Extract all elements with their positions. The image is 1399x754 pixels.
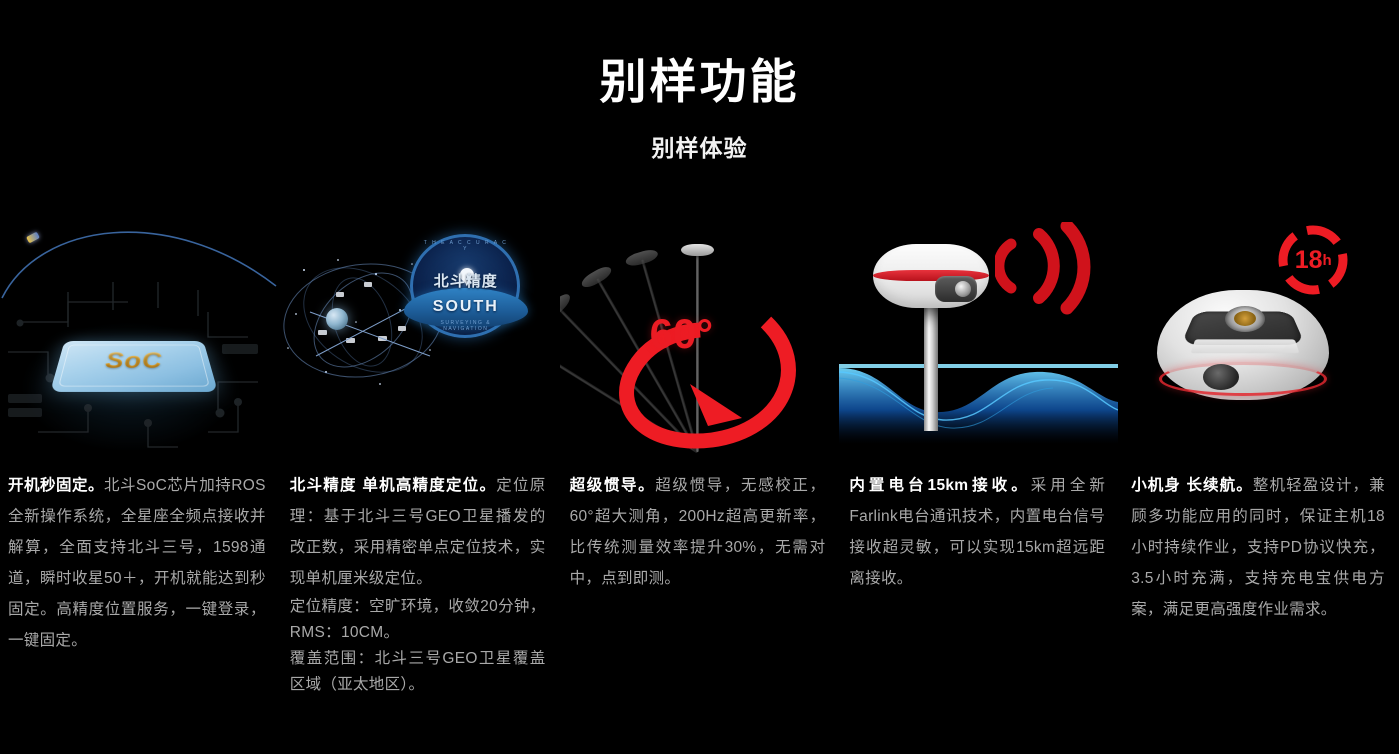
feature-extra-coverage: 覆盖范围：北斗三号GEO卫星覆盖区域（亚太地区）。 xyxy=(290,646,546,698)
feature-body-soc: 北斗SoC芯片加持ROS全新操作系统，全星座全频点接收并解算，全面支持北斗三号，… xyxy=(8,477,266,649)
chip-label: SoC xyxy=(82,348,186,374)
earth-icon xyxy=(326,308,348,330)
battery-hours-label: 18h xyxy=(1277,224,1349,296)
feature-column-radio: 内置电台15km接收。采用全新Farlink电台通讯技术，内置电台信号接收超灵敏… xyxy=(839,212,1119,732)
badge-cn-text: 北斗精度 xyxy=(412,270,520,291)
receiver-pole xyxy=(924,307,938,431)
beidou-accuracy-badge: T H E A C C U R A C Y 北斗精度 SOUTH SURVEYI… xyxy=(404,232,528,340)
battery-18h-badge: 18h xyxy=(1277,224,1349,296)
receiver-camera-module xyxy=(935,276,977,302)
beidou-constellation-image: T H E A C C U R A C Y 北斗精度 SOUTH SURVEYI… xyxy=(280,212,560,462)
feature-column-imu: 60° 超级惯导。超级惯导，无感校正，60°超大测角，200Hz超高更新率，比传… xyxy=(560,212,840,732)
receiver-base-port xyxy=(1203,364,1239,390)
receiver-base-sticker xyxy=(1191,339,1300,353)
battery-hours-unit: h xyxy=(1323,252,1332,269)
page-root: 别样功能 别样体验 xyxy=(0,0,1399,754)
receiver-radio-image xyxy=(839,212,1119,462)
feature-lead-beidou: 北斗精度 单机高精度定位。 xyxy=(290,477,497,494)
feature-column-battery: 18h 小机身 长续航。整机轻盈设计，兼顾多功能应用的同时，保证主机18小时持续… xyxy=(1119,212,1399,732)
feature-lead-imu: 超级惯导。 xyxy=(570,477,656,494)
badge-top-text: T H E A C C U R A C Y xyxy=(422,240,510,252)
page-title: 别样功能 xyxy=(0,52,1399,112)
receiver-thread-mount xyxy=(1225,306,1265,332)
page-subtitle: 别样体验 xyxy=(0,132,1399,164)
feature-columns: SoC 开机秒固定。北斗SoC芯片加持ROS全新操作系统，全星座全频点接收并解算… xyxy=(0,212,1399,732)
feature-copy-battery: 小机身 长续航。整机轻盈设计，兼顾多功能应用的同时，保证主机18小时持续作业，支… xyxy=(1131,470,1385,625)
feature-lead-radio: 内置电台15km接收。 xyxy=(849,477,1030,494)
badge-bottom-text: SURVEYING & NAVIGATION xyxy=(422,320,510,332)
tilt-degree-label: 60° xyxy=(650,310,714,358)
receiver-base-red-ring xyxy=(1159,362,1327,396)
rotation-arrow-icon xyxy=(616,280,806,455)
receiver-base-image: 18h xyxy=(1119,212,1399,462)
feature-extra-accuracy: 定位精度：空旷环境，收敛20分钟，RMS：10CM。 xyxy=(290,594,546,646)
feature-lead-battery: 小机身 长续航。 xyxy=(1131,477,1253,494)
feature-body-battery: 整机轻盈设计，兼顾多功能应用的同时，保证主机18小时持续作业，支持PD协议快充，… xyxy=(1131,477,1385,618)
feature-column-beidou: T H E A C C U R A C Y 北斗精度 SOUTH SURVEYI… xyxy=(280,212,560,732)
feature-copy-beidou: 北斗精度 单机高精度定位。定位原理：基于北斗三号GEO卫星播发的改正数，采用精密… xyxy=(290,470,546,698)
feature-copy-imu: 超级惯导。超级惯导，无感校正，60°超大测角，200Hz超高更新率，比传统测量效… xyxy=(570,470,826,594)
blue-wave-graphic xyxy=(839,358,1118,444)
soc-chip-image: SoC xyxy=(0,212,280,462)
feature-copy-radio: 内置电台15km接收。采用全新Farlink电台通讯技术，内置电台信号接收超灵敏… xyxy=(849,470,1105,594)
feature-column-soc: SoC 开机秒固定。北斗SoC芯片加持ROS全新操作系统，全星座全频点接收并解算… xyxy=(0,212,280,732)
battery-hours-value: 18 xyxy=(1295,246,1323,275)
tilt-60-image: 60° xyxy=(560,212,840,462)
feature-copy-soc: 开机秒固定。北斗SoC芯片加持ROS全新操作系统，全星座全频点接收并解算，全面支… xyxy=(8,470,266,656)
badge-en-text: SOUTH xyxy=(412,298,520,316)
feature-lead-soc: 开机秒固定。 xyxy=(8,477,104,494)
radio-signal-icon xyxy=(995,222,1105,322)
